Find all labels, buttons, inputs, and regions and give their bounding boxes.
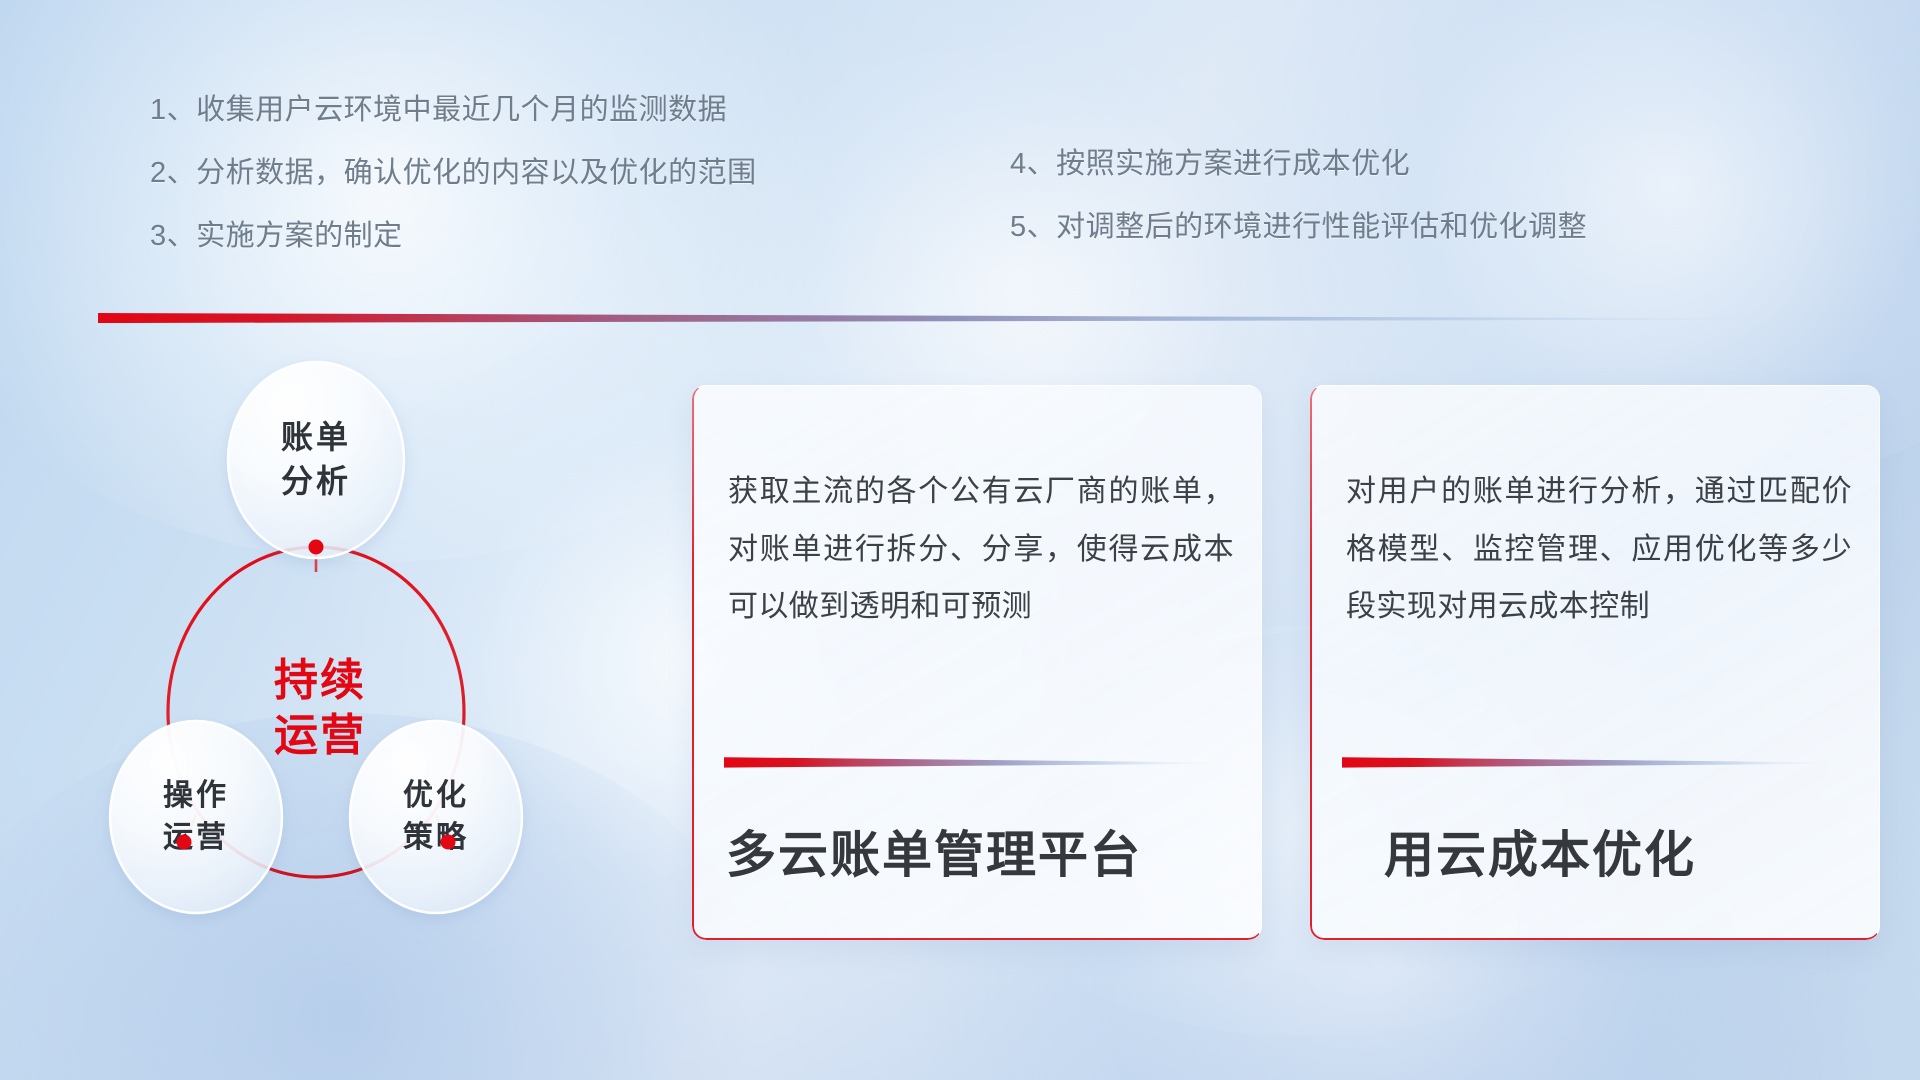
step-item-1: 1、收集用户云环境中最近几个月的监测数据: [150, 96, 850, 125]
feature-card-body: 对用户的账单进行分析，通过匹配价格模型、监控管理、应用优化等多少段实现对用云成本…: [1346, 463, 1852, 636]
feature-card-multi-cloud-billing-platform[interactable]: 获取主流的各个公有云厂商的账单，对账单进行拆分、分享，使得云成本可以做到透明和可…: [692, 385, 1262, 940]
venn-label-operations-line1: 操作: [163, 779, 229, 812]
venn-label-operations-line2: 运营: [163, 821, 229, 854]
feature-card-title: 用云成本优化: [1384, 815, 1860, 887]
venn-label-billing-analysis-line2: 分析: [281, 463, 351, 499]
venn-bubble-billing-analysis: [228, 362, 404, 558]
venn-center-label-line2: 运营: [274, 711, 366, 760]
step-item-5: 5、对调整后的环境进行性能评估和优化调整: [1010, 213, 1790, 242]
venn-bubble-optimization-strategy: [350, 721, 522, 913]
card-accent-line: [1342, 755, 1844, 771]
feature-card-cloud-cost-optimization[interactable]: 对用户的账单进行分析，通过匹配价格模型、监控管理、应用优化等多少段实现对用云成本…: [1310, 385, 1880, 940]
step-item-4: 4、按照实施方案进行成本优化: [1010, 150, 1790, 179]
steps-list-left: 1、收集用户云环境中最近几个月的监测数据 2、分析数据，确认优化的内容以及优化的…: [150, 96, 850, 251]
venn-node-optimization-strategy[interactable]: 优化 策略: [350, 721, 522, 913]
card-accent-line: [724, 755, 1226, 771]
section-divider: [98, 311, 1798, 327]
venn-dot-operations: [177, 835, 192, 850]
venn-label-optimization-strategy-line2: 策略: [403, 820, 469, 854]
venn-center-label-line1: 持续: [274, 656, 366, 705]
continuous-operations-diagram: 账单 分析 操作 运营 优化 策略 持续 运营: [92, 350, 652, 960]
venn-dot-optimization-strategy: [441, 835, 456, 850]
venn-bubble-operations: [110, 721, 282, 913]
steps-list-right: 4、按照实施方案进行成本优化 5、对调整后的环境进行性能评估和优化调整: [1010, 150, 1790, 242]
venn-center-label: 持续 运营: [274, 656, 366, 760]
venn-label-billing-analysis-line1: 账单: [281, 419, 351, 455]
step-item-3: 3、实施方案的制定: [150, 222, 850, 251]
feature-card-title: 多云账单管理平台: [726, 815, 1242, 887]
venn-node-operations[interactable]: 操作 运营: [110, 721, 282, 913]
venn-node-billing-analysis[interactable]: 账单 分析: [228, 362, 404, 558]
venn-dot-billing-analysis: [309, 540, 324, 555]
feature-card-body: 获取主流的各个公有云厂商的账单，对账单进行拆分、分享，使得云成本可以做到透明和可…: [728, 463, 1234, 636]
venn-label-optimization-strategy-line1: 优化: [403, 779, 469, 812]
step-item-2: 2、分析数据，确认优化的内容以及优化的范围: [150, 159, 850, 188]
